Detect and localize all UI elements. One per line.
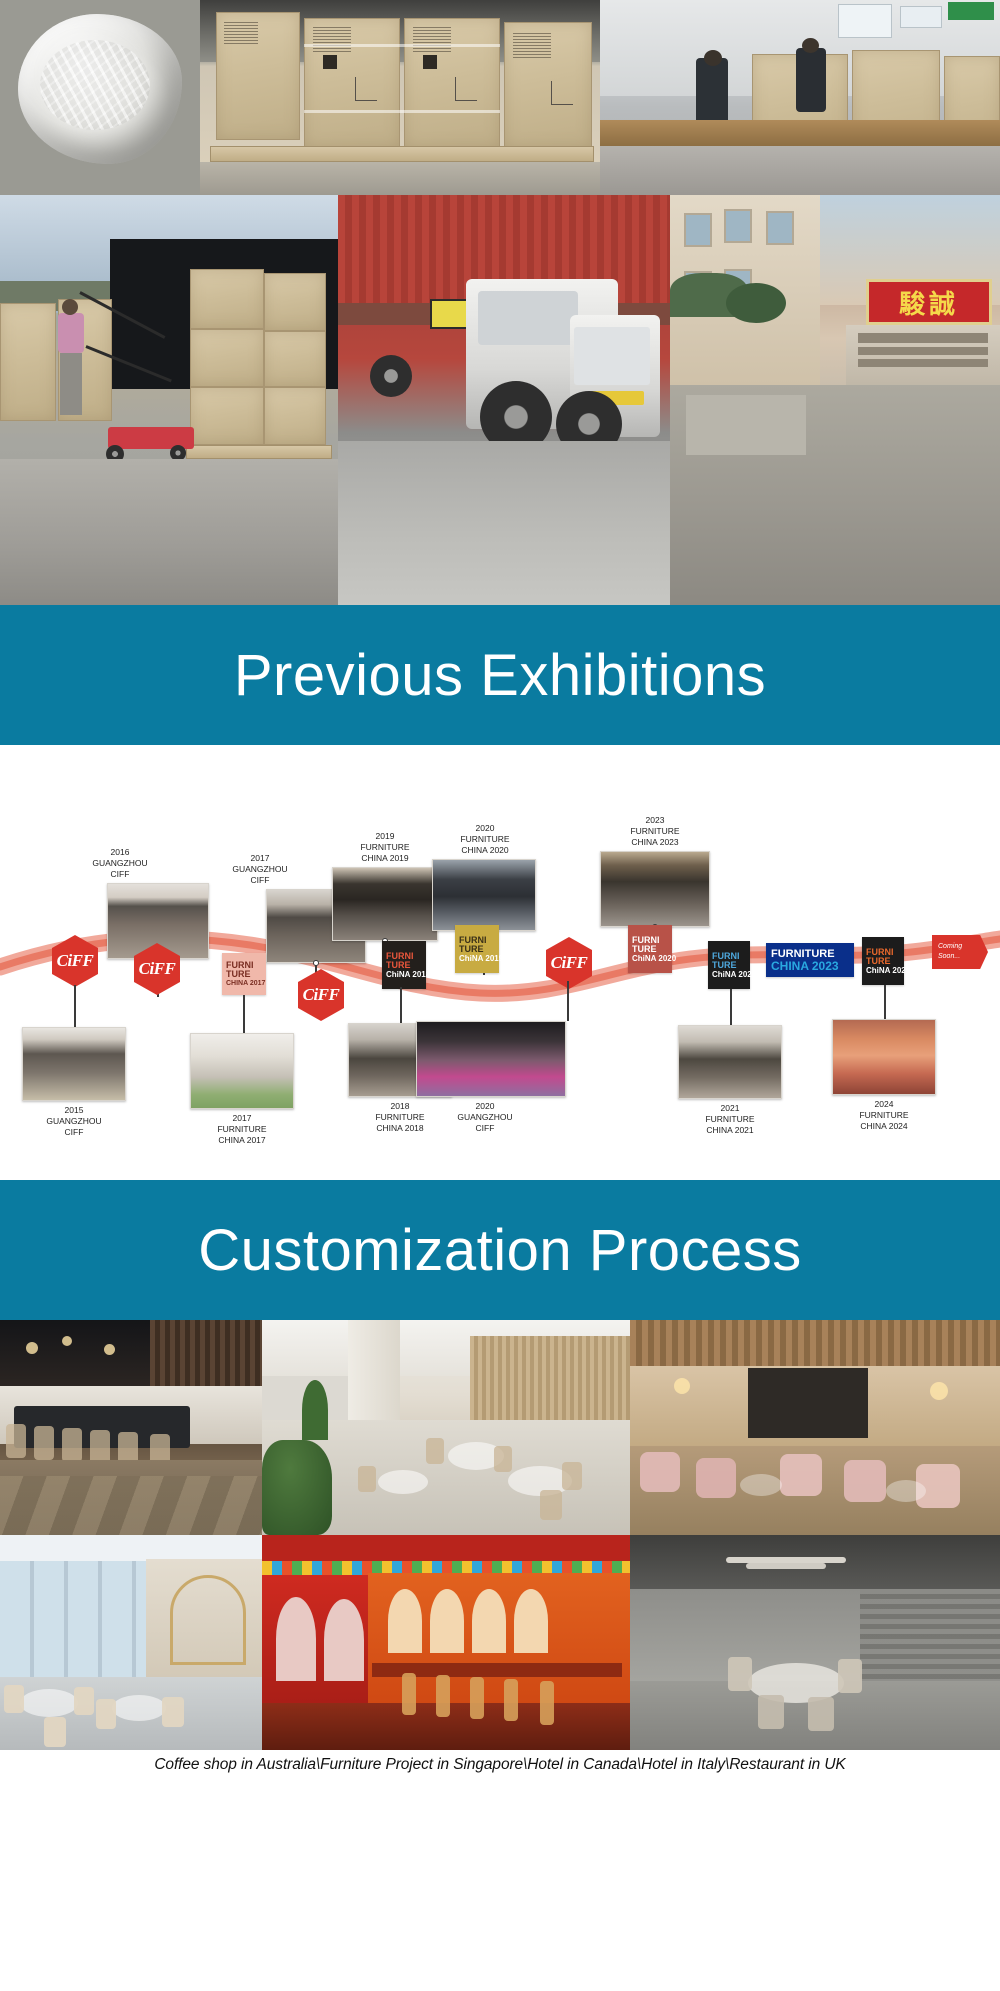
interior-photo-row-2: [0, 1535, 1000, 1750]
shipping-photo-row: 駿誠: [0, 195, 1000, 605]
timeline-photo: [416, 1021, 566, 1097]
banner-customization-process-text: Customization Process: [198, 1217, 802, 1284]
badge-ciff-1[interactable]: CiFF: [52, 935, 98, 987]
photo-forklift-loading-pallet: [0, 195, 338, 605]
badge-ciff-3[interactable]: CiFF: [298, 969, 344, 1021]
timeline-dot: [313, 960, 319, 966]
badge-label: CiFF: [551, 953, 588, 973]
photo-mexican-bar-colorful: [262, 1535, 630, 1750]
badge-fc-2020[interactable]: FURNI TURE ChiNA 2020: [628, 925, 672, 973]
banner-customization-process: Customization Process: [0, 1180, 1000, 1320]
timeline-caption: 2017 FURNITURE CHINA 2017: [182, 1113, 302, 1146]
badge-fc-2019[interactable]: FURNI TURE ChiNA 2019: [455, 925, 499, 973]
badge-line-1: FURNITURE: [771, 948, 849, 960]
timeline-stem: [243, 995, 245, 1033]
photo-plastic-wrapped-bundle: [0, 0, 200, 195]
timeline-stem: [74, 985, 76, 1027]
badge-coming-soon[interactable]: Coming Soon...: [932, 935, 988, 969]
timeline-stem: [884, 985, 886, 1019]
timeline-caption: 2016 GUANGZHOU CIFF: [60, 847, 180, 880]
photo-glass-wall-cafe: [0, 1535, 262, 1750]
badge-label: CiFF: [139, 959, 176, 979]
timeline-photo: [432, 859, 536, 931]
badge-line-3: ChiNA 2018: [386, 970, 430, 979]
badge-ciff-4[interactable]: CiFF: [546, 937, 592, 989]
badge-line-3: ChiNA 2024: [866, 966, 910, 975]
badge-line-3: ChiNA 2021: [712, 970, 756, 979]
badge-label: CiFF: [57, 951, 94, 971]
timeline-photo: [832, 1019, 936, 1095]
footer-caption-bar: Coffee shop in Australia\Furniture Proje…: [0, 1750, 1000, 1801]
badge-line-3: ChiNA 2020: [632, 954, 676, 963]
badge-line-2: TURE: [226, 970, 251, 979]
timeline-photo: [190, 1033, 294, 1109]
badge-line-3: CHINA 2017: [226, 979, 265, 988]
timeline-photo: [678, 1025, 782, 1099]
badge-line-2: TURE: [866, 957, 891, 966]
timeline-caption: 2023 FURNITURE CHINA 2023: [595, 815, 715, 848]
coming-soon-line-1: Coming: [938, 942, 988, 952]
badge-line-2: TURE: [632, 945, 657, 954]
photo-cartons-on-pallet: [200, 0, 600, 195]
product-detail-page: Made in China: [0, 0, 1000, 1991]
timeline-photo: [600, 851, 710, 927]
photo-wood-slat-restaurant: [630, 1320, 1000, 1535]
photo-factory-gate-truck: 駿誠: [670, 195, 1000, 605]
photo-workers-packing-cartons: Made in China: [600, 0, 1000, 195]
timeline-caption: 2017 GUANGZHOU CIFF: [200, 853, 320, 886]
factory-chinese-sign: 駿誠: [866, 279, 992, 325]
exhibition-timeline: 2016 GUANGZHOU CIFF 2017 GUANGZHOU CIFF …: [0, 745, 1000, 1180]
badge-fc-2018[interactable]: FURNI TURE ChiNA 2018: [382, 941, 426, 989]
banner-previous-exhibitions: Previous Exhibitions: [0, 605, 1000, 745]
packaging-photo-row: Made in China: [0, 0, 1000, 195]
badge-line-2: TURE: [459, 945, 484, 954]
photo-banquet-restaurant-dark: [0, 1320, 262, 1535]
timeline-caption: 2015 GUANGZHOU CIFF: [14, 1105, 134, 1138]
timeline-stem: [567, 981, 569, 1021]
banner-previous-exhibitions-text: Previous Exhibitions: [234, 642, 766, 709]
badge-line-2: CHINA 2023: [771, 960, 849, 973]
photo-hotel-lobby-lounge: [262, 1320, 630, 1535]
timeline-photo: [22, 1027, 126, 1101]
interior-photo-row-1: [0, 1320, 1000, 1535]
coming-soon-line-2: Soon...: [938, 952, 988, 962]
badge-fc-2024[interactable]: FURNI TURE ChiNA 2024: [862, 937, 904, 985]
badge-line-2: TURE: [712, 961, 737, 970]
timeline-stem: [400, 987, 402, 1023]
timeline-caption: 2024 FURNITURE CHINA 2024: [824, 1099, 944, 1132]
photo-grey-private-dining: [630, 1535, 1000, 1750]
timeline-caption: 2020 FURNITURE CHINA 2020: [425, 823, 545, 856]
footer-caption: Coffee shop in Australia\Furniture Proje…: [154, 1756, 845, 1774]
photo-red-container-truck: [338, 195, 670, 605]
badge-label: CiFF: [303, 985, 340, 1005]
badge-line-3: ChiNA 2019: [459, 954, 503, 963]
badge-fc-2021[interactable]: FURNI TURE ChiNA 2021: [708, 941, 750, 989]
timeline-photo: [332, 867, 438, 941]
badge-fc-2023[interactable]: FURNITURE CHINA 2023: [766, 943, 854, 977]
badge-line-2: TURE: [386, 961, 411, 970]
timeline-stem: [730, 989, 732, 1025]
timeline-caption: 2021 FURNITURE CHINA 2021: [670, 1103, 790, 1136]
timeline-caption: 2020 GUANGZHOU CIFF: [425, 1101, 545, 1134]
badge-fc-2017[interactable]: FURNI TURE CHINA 2017: [222, 953, 266, 995]
